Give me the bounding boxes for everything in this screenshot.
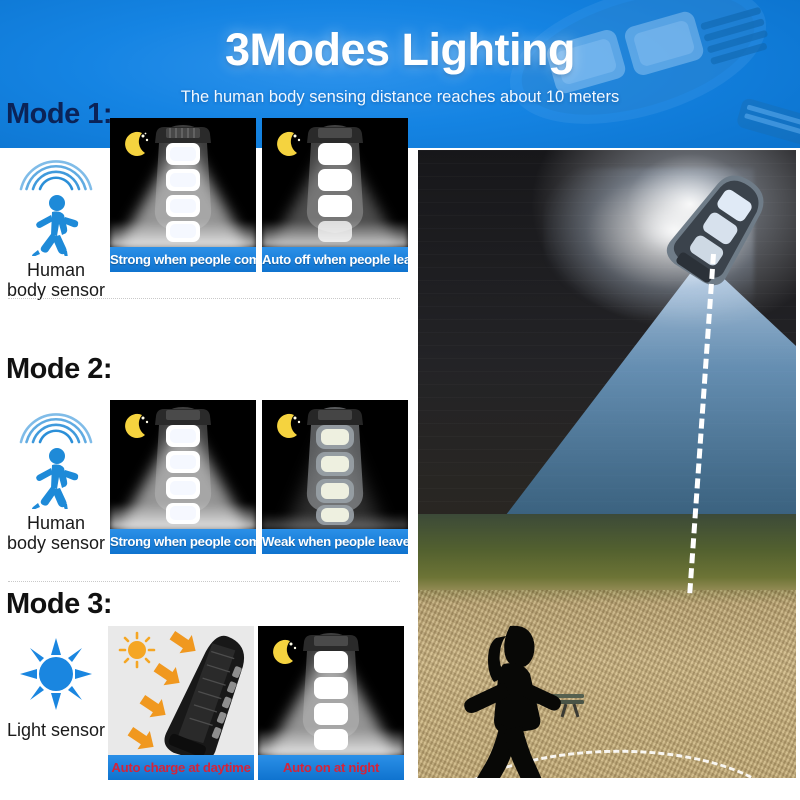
sun-icon — [18, 636, 94, 712]
mode2-thumb-weak[interactable]: Weak when people leaves — [262, 400, 408, 554]
sensor-label-line1: Human — [27, 513, 85, 533]
moon-icon — [269, 637, 299, 667]
sensor-label-2: Human body sensor — [4, 513, 108, 553]
moon-icon — [121, 411, 151, 441]
radar-waves-icon — [19, 405, 93, 445]
mode3-thumb-daycharge[interactable]: Auto charge at daytime — [108, 626, 254, 780]
page-title: 3Modes Lighting — [0, 24, 800, 76]
street-lamp-icon — [664, 168, 776, 286]
thumb-caption: Auto on at night — [258, 755, 404, 780]
radar-waves-icon — [19, 152, 93, 192]
moon-icon — [273, 411, 303, 441]
mode-block-3: Mode 3: Light sens — [0, 588, 414, 800]
street-lamp-icon — [147, 123, 219, 245]
sensor-legend-2: Human body sensor — [4, 405, 108, 553]
sensor-label-1: Human body sensor — [4, 260, 108, 300]
street-lamp-icon — [299, 123, 371, 245]
thumb-caption: Strong when people comes — [110, 247, 256, 272]
mode1-thumb-strong[interactable]: Strong when people comes — [110, 118, 256, 272]
mode-block-2: Mode 2: — [0, 353, 414, 583]
mode-block-1: Mode 1: — [0, 108, 414, 328]
modes-column: Mode 1: — [0, 148, 414, 800]
mode2-thumb-strong[interactable]: Strong when people comes — [110, 400, 256, 554]
section-divider-1 — [8, 298, 400, 299]
sensor-legend-1: Human body sensor — [4, 152, 108, 300]
section-divider-2 — [8, 581, 400, 582]
sensor-label-line2: body sensor — [7, 533, 105, 553]
thumb-caption: Strong when people comes — [110, 529, 256, 554]
mode-title-3: Mode 3: — [6, 588, 112, 621]
running-woman-silhouette-icon — [460, 620, 570, 778]
running-person-icon — [30, 447, 82, 509]
sensor-label-line1: Light sensor — [7, 720, 105, 740]
sensor-label-3: Light sensor — [4, 720, 108, 740]
street-lamp-icon — [295, 631, 367, 753]
page-subtitle: The human body sensing distance reaches … — [0, 88, 800, 107]
thumb-caption: Auto off when people leaves — [262, 247, 408, 272]
thumb-caption: Weak when people leaves — [262, 529, 408, 554]
moon-icon — [121, 129, 151, 159]
sensor-label-line1: Human — [27, 260, 85, 280]
mode-title-2: Mode 2: — [6, 353, 112, 386]
sensor-legend-3: Light sensor — [4, 636, 108, 740]
mode1-thumb-autooff[interactable]: Auto off when people leaves — [262, 118, 408, 272]
running-person-icon — [30, 194, 82, 256]
street-lamp-icon — [299, 405, 371, 527]
radar-demo-photo: 10m radar sensor — [418, 150, 796, 778]
mode3-thumb-nighton[interactable]: Auto on at night — [258, 626, 404, 780]
moon-icon — [273, 129, 303, 159]
street-lamp-icon — [147, 405, 219, 527]
infographic-page: 3Modes Lighting The human body sensing d… — [0, 0, 800, 800]
thumb-caption: Auto charge at daytime — [108, 755, 254, 780]
